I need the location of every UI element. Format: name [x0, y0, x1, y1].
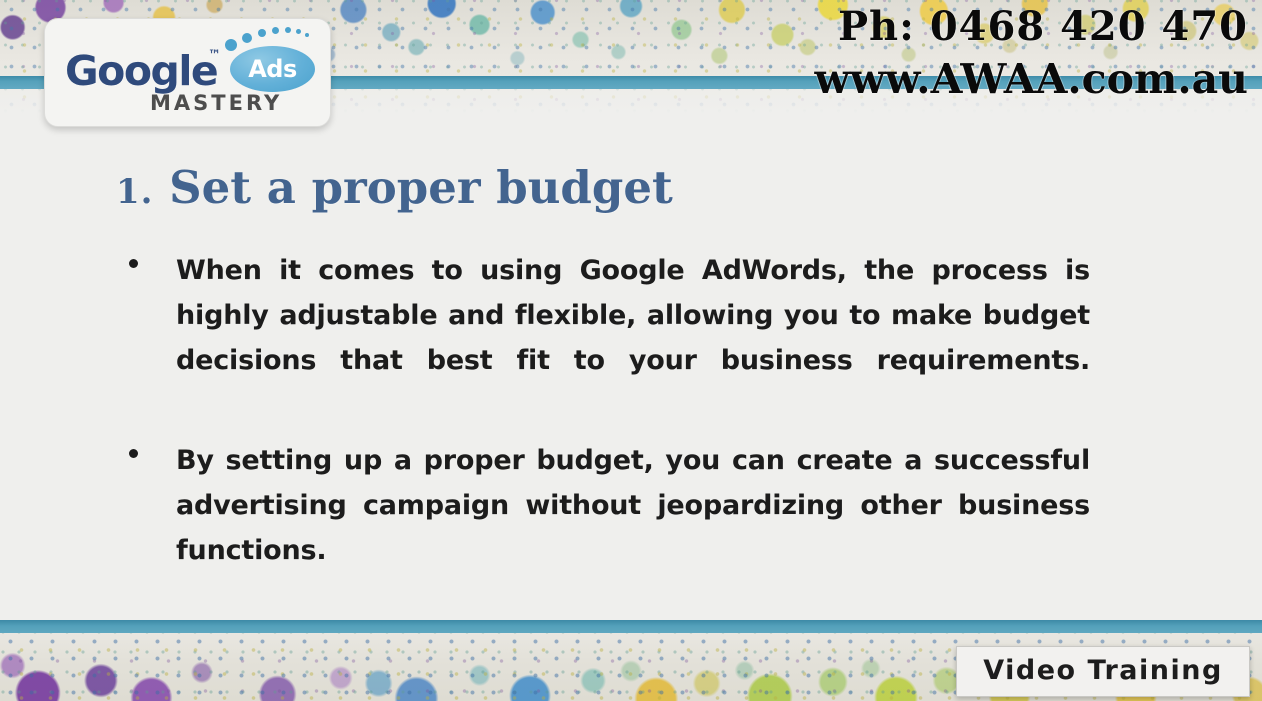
logo-dot-6-icon [296, 29, 301, 34]
slide-number: 1. [116, 172, 154, 212]
logo-google-wordmark: Google [65, 47, 217, 95]
list-item: When it comes to using Google AdWords, t… [125, 248, 1090, 428]
brand-logo-inner: Google ™ Ads MASTERY [45, 19, 330, 126]
bullet-point-icon [129, 259, 138, 268]
logo-ads-label: Ads [230, 46, 315, 92]
logo-ads-bubble-icon: Ads [230, 46, 315, 92]
footer-accent-stripe [0, 620, 1262, 633]
logo-mastery-label: MASTERY [150, 91, 282, 115]
logo-dot-5-icon [285, 27, 291, 33]
list-item: By setting up a proper budget, you can c… [125, 438, 1090, 618]
logo-dot-2-icon [242, 33, 252, 43]
trademark-icon: ™ [208, 48, 221, 63]
bullet-point-icon [129, 449, 138, 458]
bullet-list: When it comes to using Google AdWords, t… [125, 248, 1090, 628]
logo-dot-4-icon [272, 27, 279, 34]
contact-website[interactable]: www.AWAA.com.au [815, 53, 1248, 105]
page-title: 1. Set a proper budget [116, 162, 673, 218]
list-item-text: When it comes to using Google AdWords, t… [176, 248, 1090, 428]
brand-logo[interactable]: Google ™ Ads MASTERY [44, 18, 331, 127]
video-training-label: Video Training [957, 647, 1249, 694]
list-item-text: By setting up a proper budget, you can c… [176, 438, 1090, 618]
logo-dot-3-icon [258, 29, 266, 37]
logo-dot-7-icon [305, 33, 309, 37]
slide-content: 1. Set a proper budget When it comes to … [0, 124, 1262, 620]
contact-phone[interactable]: Ph: 0468 420 470 [815, 1, 1248, 53]
slide-title-text: Set a proper budget [169, 161, 673, 214]
slide-canvas: Google ™ Ads MASTERY Ph: 0468 420 470 ww… [0, 0, 1262, 701]
video-training-badge[interactable]: Video Training [956, 646, 1250, 697]
contact-info: Ph: 0468 420 470 www.AWAA.com.au [815, 1, 1248, 105]
